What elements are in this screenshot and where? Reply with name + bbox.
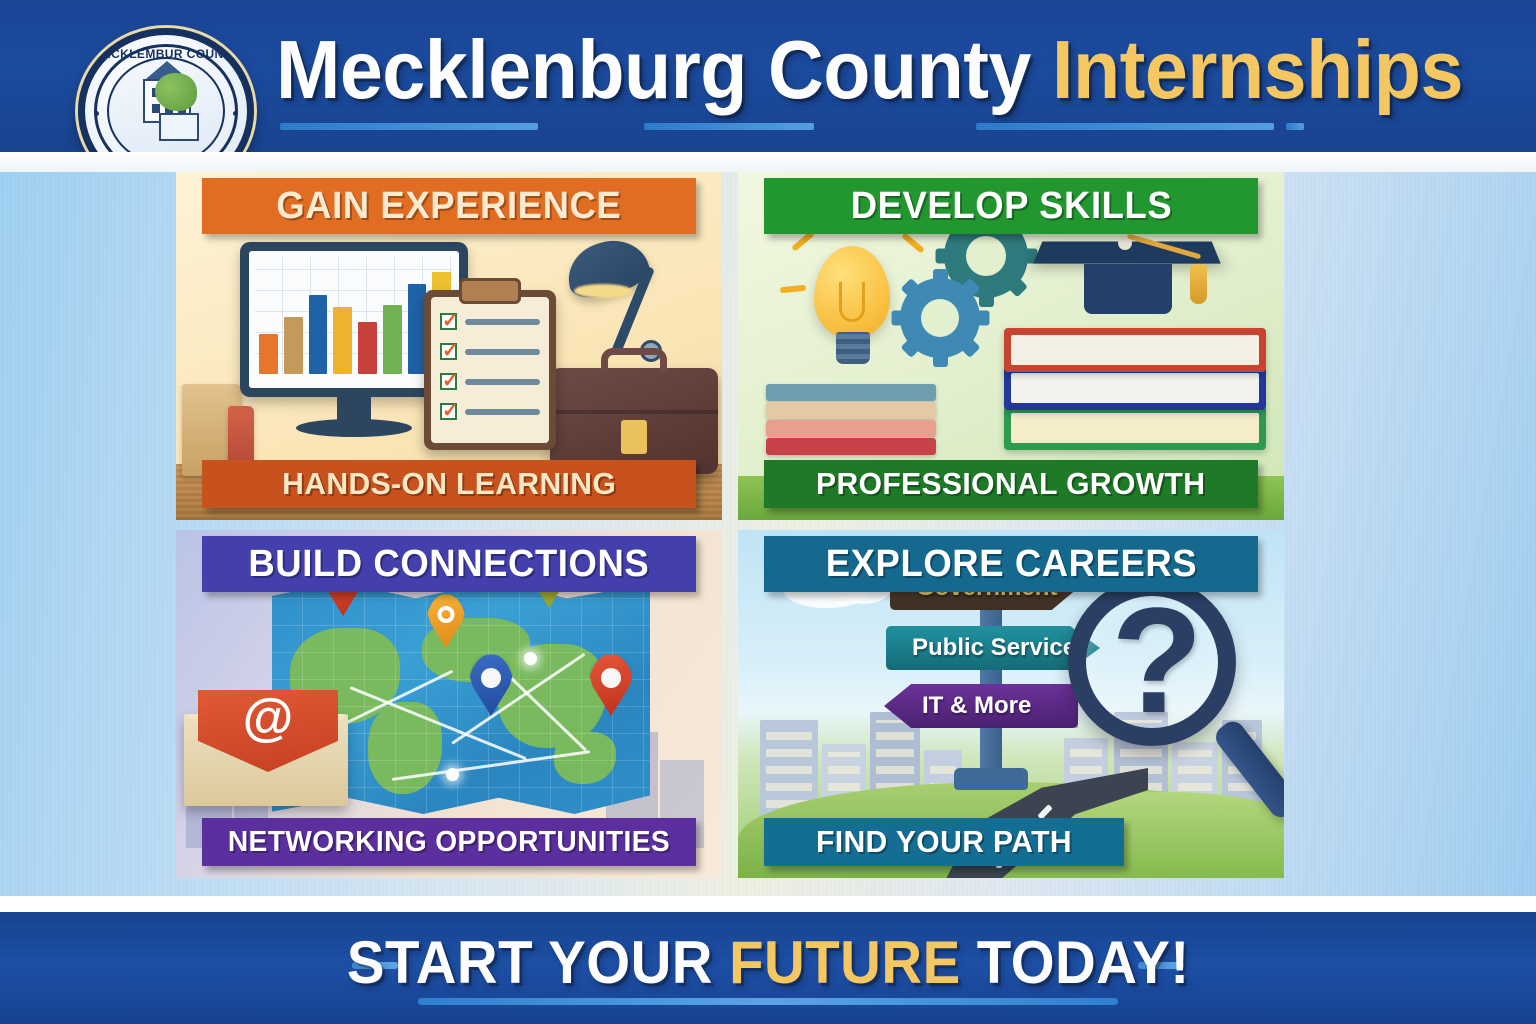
checkmark-icon [440,313,457,330]
panel-develop-skills[interactable]: DEVELOP SKILLS PROFESSIONAL GROWTH [738,172,1284,520]
map-pin-icon [468,654,514,716]
footer-call-to-action: START YOUR FUTURE TODAY! [347,930,1190,996]
graduation-cap-base [1084,264,1172,314]
footer-text-accent: FUTURE [729,929,961,996]
lamp-light-glow [574,284,632,298]
envelope-at-icon: @ [184,690,348,806]
panel-caption-text: PROFESSIONAL GROWTH [816,466,1205,502]
footer-divider [0,896,1536,912]
panel-heading-build-connections[interactable]: BUILD CONNECTIONS [202,536,696,592]
panel-build-connections[interactable]: @ BUILD CONNECTIONS NETWORKING OPPORTUNI… [176,530,722,878]
gear-icon [900,278,980,358]
seal-inner-emblem [107,57,225,165]
tassel-icon [1190,264,1207,304]
lightbulb-base [836,332,870,364]
title-accent: Internships [1052,23,1463,116]
panel-caption-text: FIND YOUR PATH [816,824,1072,860]
panel-gain-experience[interactable]: GAIN EXPERIENCE HANDS-ON LEARNING [176,172,722,520]
panel-explore-careers[interactable]: Government Public Service IT & More ? EX… [738,530,1284,878]
lightbulb-icon [814,246,890,338]
checkmark-icon [440,373,457,390]
book-stack-icon [1004,310,1266,458]
panel-caption-hands-on-learning[interactable]: HANDS-ON LEARNING [202,460,696,508]
small-book-stack-icon [766,384,936,458]
map-pin-icon [426,594,466,648]
title-underline-rules [276,123,1302,131]
footer-banner: START YOUR FUTURE TODAY! [0,912,1536,1024]
title-primary: Mecklenburg County [276,23,1031,116]
clipboard-checklist-icon [424,290,556,450]
network-node [524,652,537,665]
footer-text-2: TODAY! [960,929,1189,996]
panel-caption-find-your-path[interactable]: FIND YOUR PATH [764,818,1124,866]
panel-heading-text: DEVELOP SKILLS [850,185,1172,228]
panel-caption-text: HANDS-ON LEARNING [282,466,616,502]
sign-label: IT & More [922,692,1031,720]
panel-heading-explore-careers[interactable]: EXPLORE CAREERS [764,536,1258,592]
seal-columns-icon [159,113,199,141]
panel-caption-professional-growth[interactable]: PROFESSIONAL GROWTH [764,460,1258,508]
panel-heading-gain-experience[interactable]: GAIN EXPERIENCE [202,178,696,234]
seal-tree-icon [155,73,197,111]
network-node [446,768,459,781]
question-mark-icon: ? [1082,574,1232,746]
signpost-base [954,768,1028,790]
briefcase-icon [550,368,718,474]
footer-underline [418,998,1118,1005]
panel-heading-text: BUILD CONNECTIONS [249,543,650,586]
infographic-poster: Mecklenburg County Internships MECKLEMBU… [0,0,1536,1024]
panel-heading-develop-skills[interactable]: DEVELOP SKILLS [764,178,1258,234]
bar-chart [259,270,451,374]
panel-caption-networking-opportunities[interactable]: NETWORKING OPPORTUNITIES [202,818,696,866]
sign-it-and-more[interactable]: IT & More [884,684,1078,728]
header-divider [0,152,1536,172]
panel-caption-text: NETWORKING OPPORTUNITIES [228,826,670,859]
map-pin-icon [588,654,634,716]
sign-label: Public Service [912,634,1076,662]
checkmark-icon [440,403,457,420]
checkmark-icon [440,343,457,360]
page-title: Mecklenburg County Internships [276,22,1326,134]
panel-heading-text: EXPLORE CAREERS [825,543,1196,586]
panel-heading-text: GAIN EXPERIENCE [276,185,621,228]
footer-text-1: START YOUR [347,929,729,996]
